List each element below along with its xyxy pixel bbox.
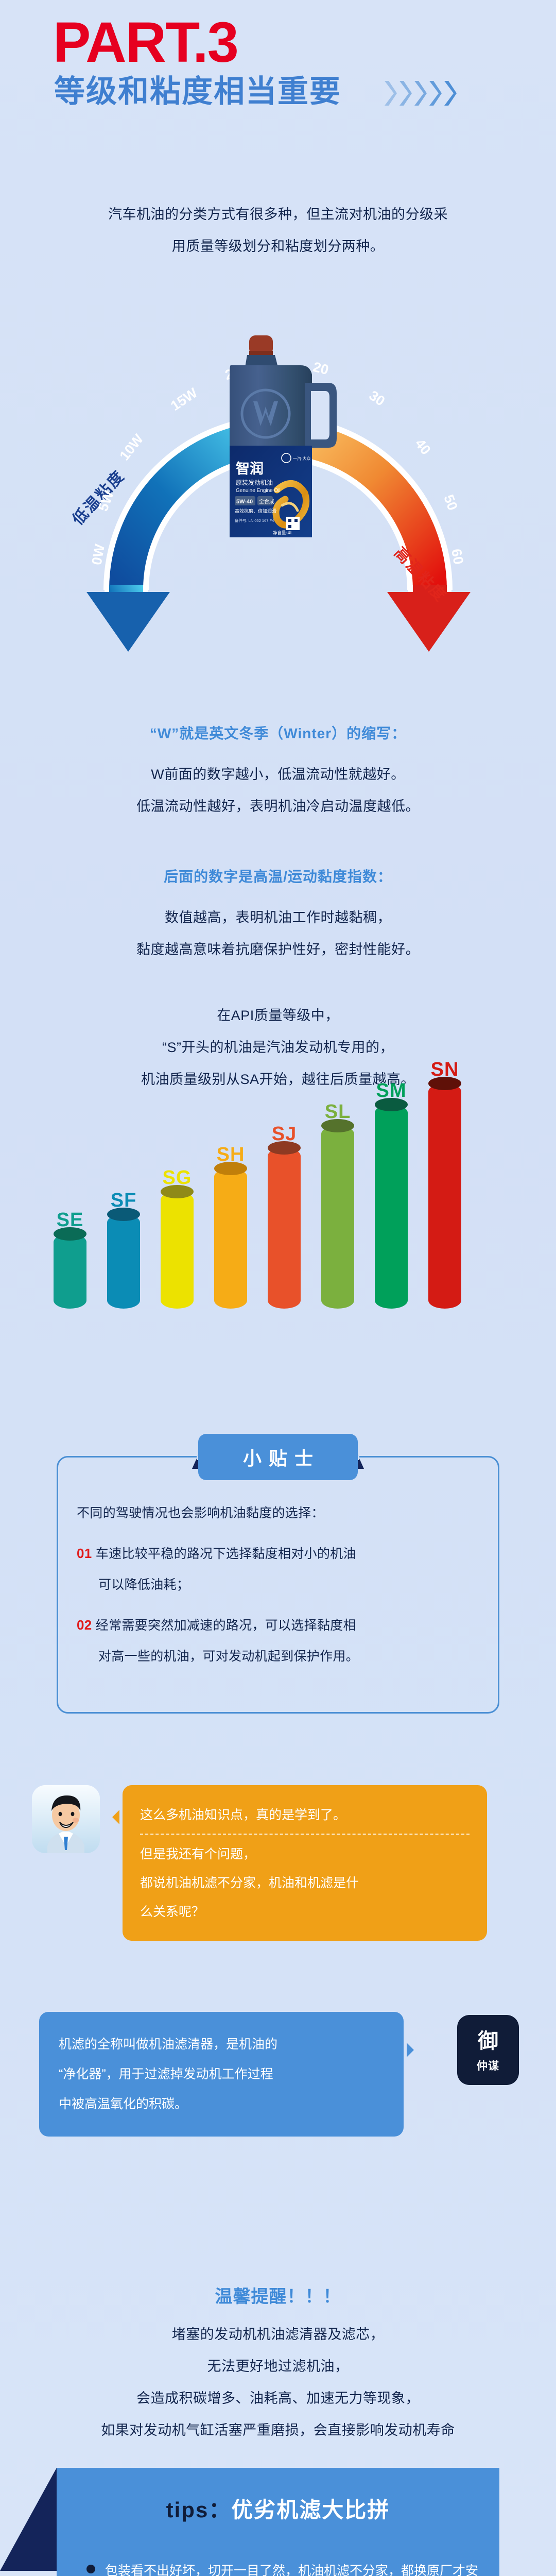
svg-text:Genuine Engine Oil: Genuine Engine Oil (236, 488, 281, 494)
w-section-heading: “W”就是英文冬季（Winter）的缩写： (0, 722, 556, 743)
chart-bar-cap-SJ (268, 1141, 301, 1155)
api-section: 在API质量等级中， “S”开头的机油是汽油发动机专用的， 机油质量级别从SA开… (0, 999, 556, 1095)
avatar-user (32, 1785, 100, 1853)
warm-reminder-line-1: 堵塞的发动机机油滤清器及滤芯， (0, 2318, 556, 2350)
tips-card: 小贴士 不同的驾驶情况也会影响机油黏度的选择： 01 车速比较平稳的路况下选择黏… (57, 1456, 499, 1714)
page-title: PART.3 (53, 14, 238, 71)
chat-question-row: 这么多机油知识点，真的是学到了。 但是我还有个问题， 都说机油机滤不分家，机油和… (32, 1785, 526, 1924)
arc-grade-60: 60 (448, 548, 466, 566)
chart-bar-SL: SL (321, 1126, 354, 1309)
svg-text:高效抗磨、倍加润滑: 高效抗磨、倍加润滑 (235, 508, 276, 514)
api-grade-bar-chart: SE SF SG SH SJ SL SM SN (0, 1108, 556, 1309)
tips-card-intro: 不同的驾驶情况也会影响机油黏度的选择： (77, 1498, 483, 1529)
answer-line-3: 中被高温氧化的积碳。 (59, 2089, 386, 2119)
w-section-line-1: W前面的数字越小，低温流动性就越好。 (0, 758, 556, 790)
chart-bar-body-SL (321, 1126, 354, 1309)
answer-line-1: 机滤的全称叫做机油滤清器，是机油的 (59, 2029, 386, 2059)
chart-bar-SE: SE (54, 1234, 86, 1309)
tips-item-02-line1: 经常需要突然加减速的路况，可以选择黏度相 (96, 1618, 356, 1633)
chart-bar-cap-SN (428, 1077, 461, 1090)
api-line-3: 机油质量级别从SA开始，越往后质量越高。 (0, 1063, 556, 1095)
chart-bar-SF: SF (107, 1214, 140, 1309)
chart-bar-SH: SH (214, 1168, 247, 1309)
question-line-2: 但是我还有个问题， (140, 1840, 470, 1869)
svg-text:全合成: 全合成 (259, 498, 274, 505)
chart-bar-body-SH (214, 1168, 247, 1309)
tips-item-number-01: 01 (77, 1546, 92, 1561)
svg-text:净含量:4L: 净含量:4L (273, 530, 293, 536)
down-arrow-red-icon (387, 592, 471, 652)
hot-section-line-2: 黏度越高意味着抗磨保护性好，密封性能好。 (0, 934, 556, 965)
header: PART.3 等级和粘度相当重要 (0, 0, 556, 155)
chat-bubble-question: 这么多机油知识点，真的是学到了。 但是我还有个问题， 都说机油机滤不分家，机油和… (123, 1785, 487, 1941)
w-section-line-2: 低温流动性越好，表明机油冷启动温度越低。 (0, 790, 556, 822)
blue-panel-title-en: tips： (166, 2498, 232, 2522)
chart-bar-body-SN (428, 1083, 461, 1309)
warm-reminder-line-4: 如果对发动机气缸活塞严重磨损，会直接影响发动机寿命 (0, 2414, 556, 2446)
chart-bar-cap-SL (321, 1119, 354, 1132)
warm-reminder-heading: 温馨提醒！！！ (0, 2282, 556, 2308)
person-avatar-icon (32, 1785, 100, 1853)
hot-section-heading: 后面的数字是高温/运动黏度指数： (0, 866, 556, 886)
chart-bar-SM: SM (375, 1105, 408, 1309)
tips-item-01-line2: 可以降低油耗； (77, 1569, 483, 1600)
svg-text:原装发动机油: 原装发动机油 (236, 479, 273, 486)
blue-panel-title-cn: 优劣机滤大比拼 (231, 2498, 390, 2522)
chevron-right-icon (428, 80, 442, 107)
intro-line-2: 用质量等级划分和粘度划分两种。 (0, 230, 556, 262)
tips-item-02: 02 经常需要突然加减速的路况，可以选择黏度相 对高一些的机油，可对发动机起到保… (77, 1609, 483, 1672)
question-line-3: 都说机油机滤不分家，机油和机滤是什 (140, 1869, 470, 1897)
tips-item-01: 01 车速比较平稳的路况下选择黏度相对小的机油 可以降低油耗； (77, 1538, 483, 1600)
chat-bubble-answer: 机滤的全称叫做机油滤清器，是机油的 “净化器”，用于过滤掉发动机工作过程 中被高… (39, 2012, 404, 2137)
chart-bar-cap-SE (54, 1227, 86, 1241)
chevron-right-icon (443, 80, 457, 107)
chart-bar-cap-SF (107, 1208, 140, 1221)
chart-bar-cap-SM (375, 1098, 408, 1111)
bubble-divider (140, 1834, 470, 1835)
warm-reminder-heading-wrap: 温馨提醒！！！ (0, 2282, 556, 2308)
chart-bar-body-SM (375, 1105, 408, 1309)
chart-bar-body-SF (107, 1214, 140, 1309)
tips-item-number-02: 02 (77, 1617, 92, 1633)
question-line-4: 么关系呢？ (140, 1897, 470, 1926)
svg-text:备件号: LN 052 167 F4: 备件号: LN 052 167 F4 (235, 518, 274, 523)
svg-text:5W-40: 5W-40 (236, 499, 253, 505)
tips-card-badge: 小贴士 (198, 1434, 358, 1480)
down-arrow-blue-icon (86, 592, 170, 652)
chart-bar-SG: SG (161, 1192, 194, 1309)
tips-item-02-line2: 对高一些的机油，可对发动机起到保护作用。 (77, 1641, 483, 1672)
api-line-2: “S”开头的机油是汽油发动机专用的， (0, 1031, 556, 1063)
bullet-dot-icon (86, 2565, 95, 2573)
chart-bar-body-SG (161, 1192, 194, 1309)
question-line-1: 这么多机油知识点，真的是学到了。 (140, 1801, 470, 1829)
svg-text:智润: 智润 (236, 461, 264, 477)
brand-logo-icon: 御 (474, 2027, 502, 2056)
chart-bar-cap-SH (214, 1162, 247, 1175)
tips-blue-panel: tips：优劣机滤大比拼 包装看不出好坏，切开一目了然，机油机滤不分家，都换原厂… (57, 2468, 499, 2576)
intro-line-1: 汽车机油的分类方式有很多种，但主流对机油的分级采 (0, 198, 556, 230)
arrow-heads-svg (0, 574, 556, 667)
svg-text:一汽·大众: 一汽·大众 (293, 456, 311, 461)
chevron-group (384, 80, 457, 107)
panel-corner-fold (0, 2468, 57, 2571)
answer-line-2: “净化器”，用于过滤掉发动机工作过程 (59, 2059, 386, 2089)
chart-bar-body-SE (54, 1234, 86, 1309)
warm-reminder-line-3: 会造成积碳增多、油耗高、加速无力等现象， (0, 2382, 556, 2414)
hot-section: 后面的数字是高温/运动黏度指数： (0, 866, 556, 886)
blue-panel-bullets: 包装看不出好坏，切开一目了然，机油机滤不分家，都换原厂才安心。 使用假冒伪劣的机… (83, 2555, 479, 2576)
bullet-text-1: 包装看不出好坏，切开一目了然，机油机滤不分家，都换原厂才安心。 (105, 2564, 478, 2576)
chevron-right-icon (413, 80, 427, 107)
hot-section-body: 数值越高，表明机油工作时越黏稠， 黏度越高意味着抗磨保护性好，密封性能好。 (0, 902, 556, 965)
warm-reminder-line-2: 无法更好地过滤机油， (0, 2350, 556, 2382)
chevron-right-icon (384, 80, 397, 107)
hot-section-line-1: 数值越高，表明机油工作时越黏稠， (0, 902, 556, 934)
brand-name-label: 仲谋 (477, 2058, 499, 2073)
tips-item-01-line1: 车速比较平稳的路况下选择黏度相对小的机油 (96, 1547, 356, 1561)
api-line-1: 在API质量等级中， (0, 999, 556, 1031)
warm-reminder-body: 堵塞的发动机机油滤清器及滤芯， 无法更好地过滤机油， 会造成积碳增多、油耗高、加… (0, 2318, 556, 2446)
w-section: “W”就是英文冬季（Winter）的缩写： (0, 722, 556, 743)
tips-card-body: 不同的驾驶情况也会影响机油黏度的选择： 01 车速比较平稳的路况下选择黏度相对小… (77, 1498, 483, 1672)
blue-panel-title: tips：优劣机滤大比拼 (57, 2493, 499, 2524)
oil-bottle-image: 智润 原装发动机油 Genuine Engine Oil 5W-40 全合成 高… (200, 335, 354, 552)
avatar-brand: 御 仲谋 (457, 2015, 519, 2085)
w-section-body: W前面的数字越小，低温流动性就越好。 低温流动性越好，表明机油冷启动温度越低。 (0, 758, 556, 822)
chart-bar-SN: SN (428, 1083, 461, 1309)
chart-bar-body-SJ (268, 1148, 301, 1309)
intro-paragraph: 汽车机油的分类方式有很多种，但主流对机油的分级采 用质量等级划分和粘度划分两种。 (0, 198, 556, 262)
page-subtitle: 等级和粘度相当重要 (54, 76, 341, 107)
viscosity-arc-diagram: 低温粘度 高温粘度 0W 5W 10W 15W 20W 20 30 40 50 … (0, 260, 556, 611)
chart-bar-SJ: SJ (268, 1148, 301, 1309)
chevron-right-icon (398, 80, 412, 107)
bullet-item: 包装看不出好坏，切开一目了然，机油机滤不分家，都换原厂才安心。 (83, 2555, 479, 2576)
chart-bar-cap-SG (161, 1185, 194, 1198)
